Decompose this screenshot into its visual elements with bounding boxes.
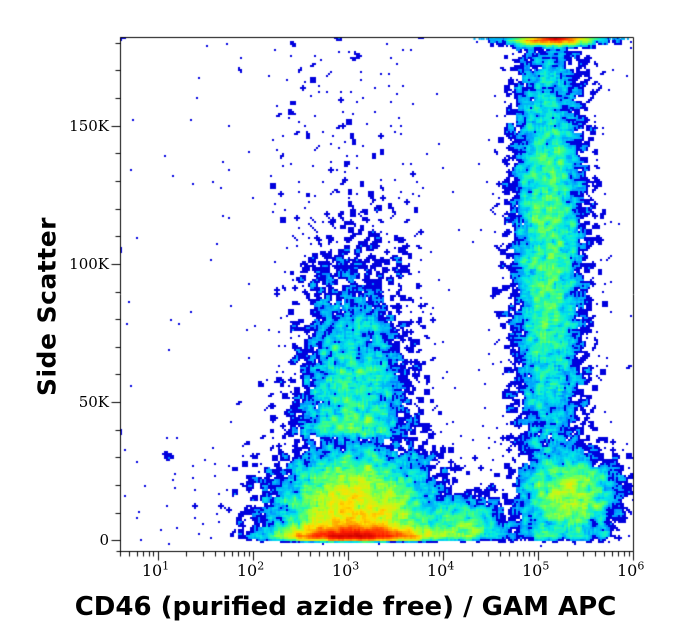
x-tick-exponent: 1 — [162, 560, 169, 573]
x-tick-exponent: 2 — [257, 560, 264, 573]
x-tick-mantissa: 10 — [427, 561, 447, 580]
x-tick-label: 104 — [427, 561, 454, 580]
y-axis-label: Side Scatter — [33, 197, 62, 417]
x-tick-exponent: 5 — [542, 560, 549, 573]
x-tick-mantissa: 10 — [617, 561, 637, 580]
x-tick-mantissa: 10 — [142, 561, 162, 580]
x-tick-mantissa: 10 — [332, 561, 352, 580]
x-tick-exponent: 3 — [352, 560, 359, 573]
y-tick-label: 0 — [99, 531, 109, 549]
x-tick-exponent: 4 — [447, 560, 454, 573]
y-tick-label: 150K — [69, 117, 109, 135]
x-tick-label: 102 — [237, 561, 264, 580]
x-tick-mantissa: 10 — [237, 561, 257, 580]
x-tick-mantissa: 10 — [522, 561, 542, 580]
flow-cytometry-plot: Side Scatter CD46 (purified azide free) … — [0, 0, 691, 641]
x-tick-label: 101 — [142, 561, 169, 580]
x-tick-label: 105 — [522, 561, 549, 580]
y-tick-label: 50K — [79, 393, 109, 411]
y-tick-label: 100K — [69, 255, 109, 273]
x-tick-label: 106 — [617, 561, 644, 580]
x-axis-label: CD46 (purified azide free) / GAM APC — [0, 592, 691, 622]
x-tick-exponent: 6 — [637, 560, 644, 573]
x-tick-label: 103 — [332, 561, 359, 580]
